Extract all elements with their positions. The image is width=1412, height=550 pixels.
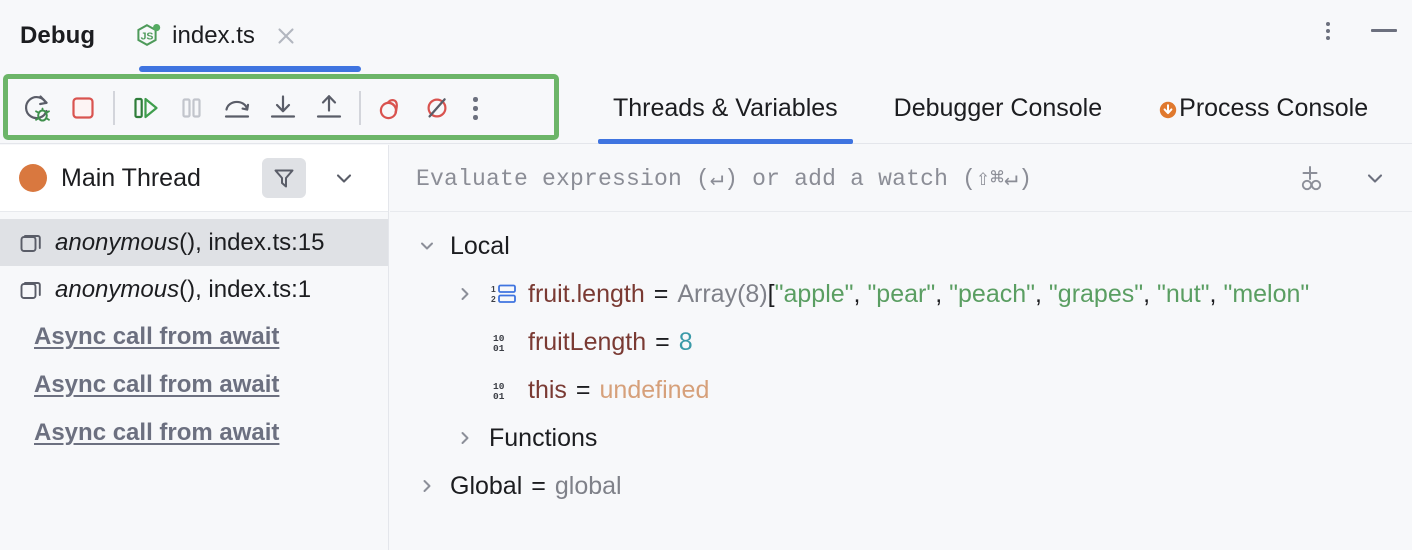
- thread-status-dot: [19, 164, 47, 192]
- chevron-down-icon[interactable]: [414, 233, 440, 259]
- tab-threads-and-variables[interactable]: Threads & Variables: [585, 72, 866, 144]
- evaluate-expression-input[interactable]: Evaluate expression (↵) or add a watch (…: [416, 165, 1032, 192]
- array-item: "grapes": [1049, 280, 1143, 308]
- chevron-down-icon[interactable]: [324, 158, 364, 198]
- toolbar-more-button[interactable]: [460, 85, 490, 131]
- variable-type-label: Array(8): [677, 280, 767, 309]
- tree-node-this[interactable]: 10 01 this = undefined: [390, 366, 1412, 414]
- variable-name: Local: [450, 232, 510, 261]
- array-bracket-open: [: [768, 280, 775, 309]
- tree-node-functions[interactable]: Functions: [390, 414, 1412, 462]
- variable-value: undefined: [600, 376, 710, 405]
- array-item: "pear": [867, 280, 935, 308]
- step-into-button[interactable]: [260, 85, 306, 131]
- frame-function-name: anonymous: [55, 229, 179, 256]
- orange-download-arrow-icon: [1158, 98, 1178, 118]
- array-item: "melon": [1223, 280, 1309, 308]
- frame-label: anonymous(), index.ts:15: [55, 229, 324, 257]
- pause-icon: [174, 91, 208, 125]
- chevron-right-icon[interactable]: [414, 473, 440, 499]
- tab-debugger-console[interactable]: Debugger Console: [866, 72, 1130, 144]
- tree-node-local[interactable]: Local: [390, 222, 1412, 270]
- tab-label: Process Console: [1179, 94, 1368, 123]
- pause-program-button[interactable]: [168, 85, 214, 131]
- title-bar: Debug JS index.ts: [0, 0, 1412, 72]
- table-row[interactable]: anonymous(), index.ts:15: [0, 219, 388, 266]
- thread-name-label: Main Thread: [61, 164, 201, 193]
- file-tab-index-ts[interactable]: JS index.ts: [133, 0, 297, 72]
- chevron-right-icon[interactable]: [452, 425, 478, 451]
- evaluate-actions: [1290, 157, 1394, 199]
- binary-value-icon: 10 01: [489, 377, 519, 403]
- svg-text:JS: JS: [141, 31, 154, 43]
- chevron-down-icon[interactable]: [1356, 157, 1394, 199]
- rerun-debug-button[interactable]: [14, 85, 60, 131]
- frames-panel: Main Thread anonymou: [0, 145, 389, 550]
- evaluate-expression-bar[interactable]: Evaluate expression (↵) or add a watch (…: [390, 145, 1412, 212]
- variables-tree: Local 1 2 fruit.length = A: [390, 212, 1412, 510]
- resume-program-button[interactable]: [122, 85, 168, 131]
- mute-breakpoints-icon: [420, 91, 454, 125]
- debug-actions-toolbar: [14, 84, 490, 132]
- variables-panel: Evaluate expression (↵) or add a watch (…: [390, 145, 1412, 550]
- table-row[interactable]: anonymous(), index.ts:1: [0, 266, 388, 313]
- stop-icon: [66, 91, 100, 125]
- chevron-right-icon[interactable]: [452, 281, 478, 307]
- thread-selector[interactable]: Main Thread: [0, 145, 388, 212]
- svg-text:1: 1: [491, 284, 496, 294]
- frame-icon: [18, 230, 44, 256]
- tree-node-global[interactable]: Global = global: [390, 462, 1412, 510]
- equals-sign: =: [531, 472, 546, 501]
- nodejs-js-file-icon: JS: [133, 21, 163, 51]
- equals-sign: =: [655, 328, 670, 357]
- frame-icon: [18, 277, 44, 303]
- array-list-icon: 1 2: [489, 281, 519, 307]
- mute-breakpoints-button[interactable]: [414, 85, 460, 131]
- minimize-icon[interactable]: [1370, 18, 1398, 42]
- variable-name: Global: [450, 472, 522, 501]
- frame-location: (), index.ts:1: [179, 276, 311, 303]
- frame-function-name: anonymous: [55, 276, 179, 303]
- array-item: "apple": [775, 280, 854, 308]
- binary-value-icon: 10 01: [489, 329, 519, 355]
- stop-button[interactable]: [60, 85, 106, 131]
- filter-icon[interactable]: [262, 158, 306, 198]
- file-tab-label: index.ts: [172, 22, 255, 50]
- frame-label: anonymous(), index.ts:1: [55, 276, 311, 304]
- list-item[interactable]: Async call from await: [0, 409, 388, 457]
- step-out-button[interactable]: [306, 85, 352, 131]
- view-breakpoints-button[interactable]: [368, 85, 414, 131]
- breakpoints-icon: [374, 91, 408, 125]
- array-item: "peach": [949, 280, 1035, 308]
- tree-node-fruit-length[interactable]: 1 2 fruit.length = Array(8) [ "apple", "…: [390, 270, 1412, 318]
- svg-text:2: 2: [491, 294, 496, 304]
- async-call-link: Async call from await: [34, 419, 279, 447]
- variable-value: 8: [679, 328, 693, 357]
- variable-name: Functions: [489, 424, 597, 453]
- async-call-link: Async call from await: [34, 371, 279, 399]
- frame-location: (), index.ts:15: [179, 229, 324, 256]
- tree-node-fruitlength[interactable]: 10 01 fruitLength = 8: [390, 318, 1412, 366]
- call-stack-list: anonymous(), index.ts:15 anonymous(), in…: [0, 212, 388, 457]
- svg-text:01: 01: [493, 343, 505, 353]
- step-over-button[interactable]: [214, 85, 260, 131]
- list-item[interactable]: Async call from await: [0, 361, 388, 409]
- debug-tool-window: Debug JS index.ts: [0, 0, 1412, 550]
- variable-name: fruitLength: [528, 328, 646, 357]
- list-item[interactable]: Async call from await: [0, 313, 388, 361]
- equals-sign: =: [654, 280, 669, 309]
- toolbar-divider: [113, 91, 115, 125]
- dots-vertical-icon[interactable]: [1316, 18, 1340, 42]
- add-watch-icon[interactable]: [1290, 157, 1332, 199]
- variable-value: global: [555, 472, 622, 501]
- close-icon[interactable]: [275, 25, 297, 47]
- toolbar-divider-2: [359, 91, 361, 125]
- array-items: "apple", "pear", "peach", "grapes", "nut…: [775, 280, 1310, 309]
- step-over-icon: [220, 91, 254, 125]
- rerun-debug-icon: [20, 91, 54, 125]
- svg-text:01: 01: [493, 391, 505, 401]
- async-call-link: Async call from await: [34, 323, 279, 351]
- tab-process-console[interactable]: Process Console: [1130, 72, 1396, 144]
- tab-label: Debugger Console: [894, 94, 1102, 123]
- resume-icon: [128, 91, 162, 125]
- window-controls: [1316, 18, 1398, 42]
- step-into-icon: [266, 91, 300, 125]
- tab-label: Threads & Variables: [613, 94, 838, 123]
- equals-sign: =: [576, 376, 591, 405]
- array-item: "nut": [1157, 280, 1210, 308]
- page-title: Debug: [20, 22, 95, 50]
- debug-tabs: Threads & Variables Debugger Console Pro…: [585, 72, 1396, 144]
- variable-name: fruit.length: [528, 280, 645, 309]
- step-out-icon: [312, 91, 346, 125]
- variable-name: this: [528, 376, 567, 405]
